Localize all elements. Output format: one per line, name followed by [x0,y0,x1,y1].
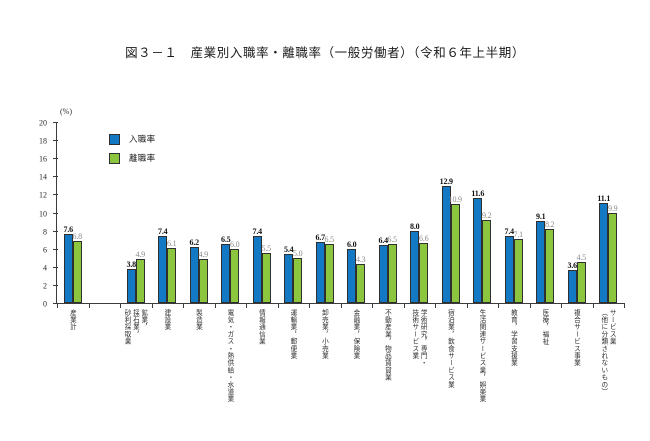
x-axis-tick [561,303,562,308]
bar-rishoku[interactable]: 6.5 [388,244,397,303]
legend-label: 入職率 [129,133,155,145]
bar-nyushoku[interactable]: 6.0 [347,249,356,303]
bar-value-label: 6.5 [388,235,397,244]
x-axis-label-column: 産業計 [68,309,75,331]
x-axis-tick [120,303,121,308]
x-axis-tick [152,303,153,308]
bar-value-label: 6.8 [73,232,82,241]
y-axis-tick-label: 10 [39,209,47,218]
bar-rishoku[interactable]: 6.5 [325,244,334,303]
x-axis-label-column: サービス業 [608,309,615,395]
y-axis-tick-label: 2 [43,281,47,290]
bar-value-label: 7.6 [64,225,73,234]
x-axis-label: サービス業（他に分類されないもの） [599,309,615,395]
x-axis-labels: 産業計鉱業，採石業，砂利採取業建設業製造業電気・ガス・熱供給・水道業情報通信業運… [56,309,624,437]
bar-value-label: 6.0 [347,240,356,249]
bar-nyushoku[interactable]: 11.6 [473,198,482,303]
bar-nyushoku[interactable]: 3.8 [127,269,136,303]
x-axis-tick [183,303,184,308]
bar-value-label: 10.9 [449,195,462,204]
chart-legend: 入職率離職率 [109,133,155,171]
x-axis-tick [341,303,342,308]
x-axis-label: 不動産業，物品賃貸業 [383,309,390,381]
bar-nyushoku[interactable]: 8.0 [410,231,419,303]
x-axis-tick [624,303,625,308]
bar-value-label: 6.0 [230,240,239,249]
x-axis-label: 運輸業，郵便業 [289,309,296,359]
x-axis-label-column: 運輸業，郵便業 [289,309,296,359]
bar-value-label: 8.2 [545,220,554,229]
x-axis-label: 情報通信業 [257,309,264,345]
y-axis-tick-label: 16 [39,155,47,164]
bar-group: 11.69.2 [467,122,499,303]
bar-value-label: 5.5 [262,244,271,253]
x-axis-label: 複合サービス事業 [572,309,579,367]
y-axis-tick-label: 14 [39,173,47,182]
bar-value-label: 7.4 [253,227,262,236]
x-axis-label: 産業計 [68,309,75,331]
bar-nyushoku[interactable]: 3.6 [568,270,577,303]
x-axis-label: 鉱業，採石業，砂利採取業 [123,309,147,345]
y-axis-unit-label: (%) [60,107,72,116]
x-axis-label-column: 不動産業，物品賃貸業 [383,309,390,381]
bar-value-label: 6.5 [325,235,334,244]
x-axis-label-column: 電気・ガス・熱供給・水道業 [226,309,233,403]
bar-value-label: 8.0 [410,222,419,231]
bar-value-label: 7.4 [158,227,167,236]
x-axis-label-column: 製造業 [194,309,201,331]
x-axis-label-column: 技術サービス業 [410,309,417,367]
bar-value-label: 4.9 [199,250,208,259]
x-axis-label-column: 採石業， [131,309,138,345]
bar-value-label: 11.6 [471,189,484,198]
x-axis-tick [467,303,468,308]
legend-item-rishoku[interactable]: 離職率 [109,152,155,164]
bar-value-label: 11.1 [597,194,610,203]
bar-nyushoku[interactable]: 5.4 [284,254,293,303]
x-axis-label: 卸売業，小売業 [320,309,327,359]
y-axis-tick-label: 6 [43,245,47,254]
bar-group: 6.46.5 [372,122,404,303]
bar-rishoku[interactable]: 4.9 [136,259,145,303]
x-axis-label-column: 医療，福祉 [541,309,548,345]
x-axis-tick [246,303,247,308]
x-axis-label-column: 学術研究，専門・ [419,309,426,367]
x-axis-label-column: 情報通信業 [257,309,264,345]
bar-rishoku[interactable]: 4.5 [577,262,586,303]
bar-value-label: 6.6 [419,234,428,243]
bar-rishoku[interactable]: 5.5 [262,253,271,303]
x-axis-label: 建設業 [163,309,170,331]
legend-color-swatch [109,134,120,145]
bar-value-label: 4.9 [136,250,145,259]
x-axis-tick [57,303,58,308]
bar-nyushoku[interactable]: 6.2 [190,247,199,303]
bar-value-label: 6.1 [167,239,176,248]
x-axis-label-column: 複合サービス事業 [572,309,579,367]
x-axis-tick [593,303,594,308]
bar-value-label: 6.5 [221,235,230,244]
legend-item-nyushoku[interactable]: 入職率 [109,133,155,145]
y-axis-tick-label: 20 [39,119,47,128]
x-axis-label: 金融業，保険業 [352,309,359,359]
y-axis-tick-label: 8 [43,227,47,236]
x-axis-tick [404,303,405,308]
x-axis-label-column: （他に分類されないもの） [599,309,606,395]
bar-group: 6.04.3 [341,122,373,303]
x-axis-tick [215,303,216,308]
legend-label: 離職率 [129,152,155,164]
x-axis-tick [372,303,373,308]
bar-nyushoku[interactable]: 7.4 [505,236,514,303]
bar-group: 5.45.0 [278,122,310,303]
x-axis-label-column: 金融業，保険業 [352,309,359,359]
bar-rishoku[interactable]: 6.0 [230,249,239,303]
bar-nyushoku[interactable]: 6.7 [316,242,325,303]
x-axis-label-column: 建設業 [163,309,170,331]
bar-value-label: 5.4 [284,245,293,254]
bar-nyushoku[interactable]: 6.4 [379,245,388,303]
x-axis-tick [530,303,531,308]
x-axis-label: 生活関連サービス業，娯楽業 [478,309,485,403]
x-axis-tick [435,303,436,308]
x-axis-label-column: 宿泊業，飲食サービス業 [446,309,453,388]
bar-rishoku[interactable]: 9.2 [482,220,491,303]
x-axis-tick [278,303,279,308]
y-axis-tick-label: 18 [39,137,47,146]
x-axis-label: 医療，福祉 [541,309,548,345]
bar-group: 6.24.9 [183,122,215,303]
x-axis-label-column: 砂利採取業 [123,309,130,345]
bar-value-label: 9.1 [536,212,545,221]
bar-nyushoku[interactable]: 9.1 [536,221,545,303]
legend-color-swatch [109,153,120,164]
bar-group: 3.64.5 [561,122,593,303]
bar-value-label: 6.7 [316,233,325,242]
bar-nyushoku[interactable]: 11.1 [599,203,608,303]
x-axis-tick [498,303,499,308]
bar-rishoku[interactable]: 6.1 [167,248,176,303]
bar-group: 7.66.8 [57,122,89,303]
bar-group: 6.56.0 [215,122,247,303]
bar-group: 7.47.1 [498,122,530,303]
bar-group: 11.19.9 [593,122,625,303]
x-axis-tick [89,303,90,308]
bar-rishoku[interactable]: 4.9 [199,259,208,303]
bar-rishoku[interactable]: 6.6 [419,243,428,303]
x-axis-label-column: 卸売業，小売業 [320,309,327,359]
bar-nyushoku[interactable]: 6.5 [221,244,230,303]
x-axis-label-column: 鉱業， [139,309,146,345]
bar-group: 12.910.9 [435,122,467,303]
bar-group: 9.18.2 [530,122,562,303]
bar-group: 7.45.5 [246,122,278,303]
x-axis-label-column: 教育，学習支援業 [509,309,516,367]
bar-value-label: 3.8 [127,260,136,269]
bar-group: 6.76.5 [309,122,341,303]
bar-value-label: 5.0 [293,249,302,258]
bar-value-label: 6.2 [190,238,199,247]
y-axis-tick-label: 12 [39,191,47,200]
bar-value-label: 12.9 [440,177,453,186]
page-title: 図３－１ 産業別入職率・離職率（一般労働者）（令和６年上半期） [0,42,650,61]
bar-nyushoku[interactable]: 7.4 [253,236,262,303]
bar-nyushoku[interactable]: 7.4 [158,236,167,303]
bar-rishoku[interactable]: 5.0 [293,258,302,303]
y-axis-tick-label: 4 [43,263,47,272]
bar-group: 7.46.1 [152,122,184,303]
bar-rishoku[interactable]: 10.9 [451,204,460,303]
bar-value-label: 9.2 [482,211,491,220]
x-axis-label: 教育，学習支援業 [509,309,516,367]
bar-value-label: 3.6 [568,261,577,270]
bar-nyushoku[interactable]: 7.6 [64,234,73,303]
bar-value-label: 4.3 [356,255,365,264]
x-axis-label: 電気・ガス・熱供給・水道業 [226,309,233,403]
bar-value-label: 7.1 [514,230,523,239]
bar-value-label: 4.5 [577,253,586,262]
x-axis-label: 学術研究，専門・技術サービス業 [410,309,426,367]
bar-value-label: 9.9 [608,204,617,213]
bar-rishoku[interactable]: 9.9 [608,213,617,303]
bar-rishoku[interactable]: 4.3 [356,264,365,303]
bar-group: 8.06.6 [404,122,436,303]
bar-value-label: 6.4 [379,236,388,245]
bar-rishoku[interactable]: 8.2 [545,229,554,303]
bar-value-label: 7.4 [505,227,514,236]
x-axis-tick [309,303,310,308]
y-axis-tick-label: 0 [43,300,47,309]
x-axis-label-column: 生活関連サービス業，娯楽業 [478,309,485,403]
bar-rishoku[interactable]: 6.8 [73,241,82,303]
bar-rishoku[interactable]: 7.1 [514,239,523,303]
x-axis-label: 製造業 [194,309,201,331]
x-axis-label: 宿泊業，飲食サービス業 [446,309,453,388]
